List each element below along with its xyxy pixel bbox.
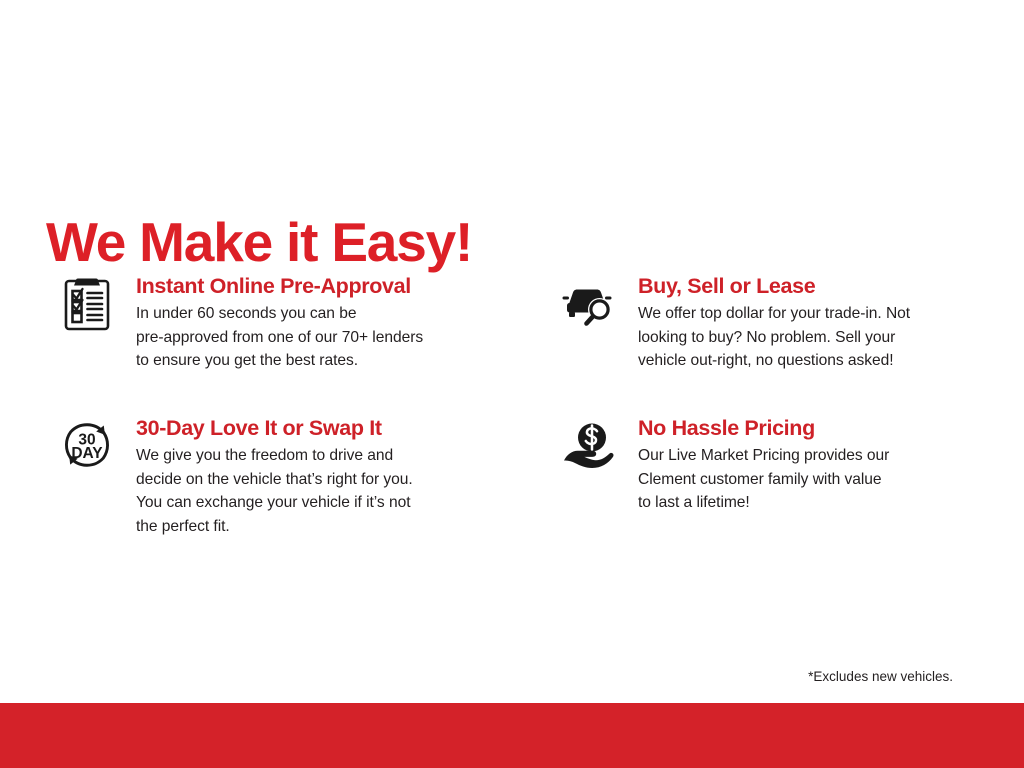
feature-buy-sell-or-lease: Buy, Sell or Lease We offer top dollar f… <box>560 272 1000 373</box>
feature-line: We offer top dollar for your trade-in. N… <box>638 302 910 326</box>
thirty-day-icon-unit: DAY <box>71 445 103 462</box>
feature-instant-online-pre-approval: Instant Online Pre-Approval In under 60 … <box>58 272 508 373</box>
feature-body: Buy, Sell or Lease We offer top dollar f… <box>638 272 910 373</box>
footnote-disclaimer: *Excludes new vehicles. <box>808 669 953 685</box>
feature-line: You can exchange your vehicle if it’s no… <box>136 491 413 515</box>
feature-body: Instant Online Pre-Approval In under 60 … <box>136 272 423 373</box>
feature-body: No Hassle Pricing Our Live Market Pricin… <box>638 414 889 515</box>
feature-description: In under 60 seconds you can be pre-appro… <box>136 302 423 373</box>
feature-no-hassle-pricing: No Hassle Pricing Our Live Market Pricin… <box>560 414 1000 515</box>
hand-holding-dollar-icon <box>560 416 618 474</box>
feature-description: Our Live Market Pricing provides our Cle… <box>638 444 889 515</box>
feature-30-day-love-it-or-swap-it: 30 DAY 30-Day Love It or Swap It We give… <box>58 414 508 538</box>
car-search-icon <box>560 274 618 332</box>
feature-line: to last a lifetime! <box>638 491 889 515</box>
thirty-day-swap-icon: 30 DAY <box>58 416 116 474</box>
feature-title: Instant Online Pre-Approval <box>136 274 423 299</box>
feature-line: vehicle out-right, no questions asked! <box>638 349 910 373</box>
feature-title: Buy, Sell or Lease <box>638 274 910 299</box>
page-title: We Make it Easy! <box>46 213 472 271</box>
feature-line: Our Live Market Pricing provides our <box>638 444 889 468</box>
feature-line: We give you the freedom to drive and <box>136 444 413 468</box>
feature-line: looking to buy? No problem. Sell your <box>638 326 910 350</box>
slide-canvas: We Make it Easy! <box>0 0 1024 768</box>
clipboard-checklist-icon <box>58 274 116 332</box>
feature-description: We offer top dollar for your trade-in. N… <box>638 302 910 373</box>
feature-body: 30-Day Love It or Swap It We give you th… <box>136 414 413 538</box>
feature-line: Clement customer family with value <box>638 468 889 492</box>
bottom-accent-bar <box>0 703 1024 768</box>
feature-title: No Hassle Pricing <box>638 416 889 441</box>
feature-title: 30-Day Love It or Swap It <box>136 416 413 441</box>
feature-line: In under 60 seconds you can be <box>136 302 423 326</box>
feature-line: the perfect fit. <box>136 515 413 539</box>
feature-description: We give you the freedom to drive and dec… <box>136 444 413 538</box>
feature-line: to ensure you get the best rates. <box>136 349 423 373</box>
feature-line: pre-approved from one of our 70+ lenders <box>136 326 423 350</box>
feature-line: decide on the vehicle that’s right for y… <box>136 468 413 492</box>
